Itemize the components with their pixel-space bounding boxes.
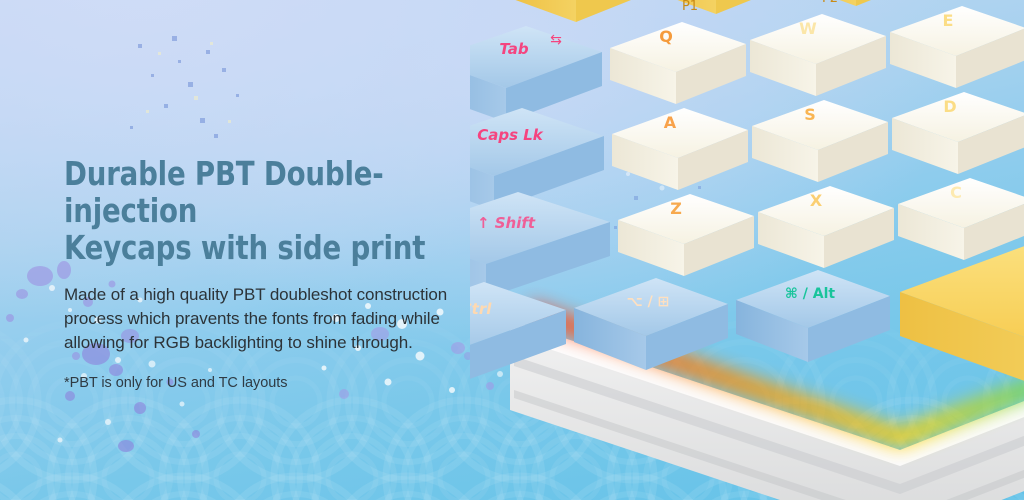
key-x: X xyxy=(758,186,894,268)
key-d: D xyxy=(892,92,1024,174)
key-label: A xyxy=(664,113,677,132)
key-label: X xyxy=(810,191,823,210)
key-label: S xyxy=(804,105,816,124)
copy-block: Durable PBT Double-injection Keycaps wit… xyxy=(64,156,534,394)
product-feature-banner: ☼ Red+ Green+ xyxy=(0,0,1024,500)
keyboard-case xyxy=(510,320,1024,500)
key-label: ⌘ / Alt xyxy=(785,286,835,302)
keyboard-product-image: ☼ Red+ Green+ xyxy=(470,0,1024,500)
key-tab: Tab ⇆ xyxy=(470,26,602,122)
key-row-asdf: Caps Lk A S xyxy=(470,84,1024,210)
key-sublabel: P1 xyxy=(682,0,698,14)
paint-splatter-texture xyxy=(600,140,720,250)
key-label: Tab xyxy=(499,40,529,58)
paint-splatter-texture xyxy=(118,30,268,150)
key-e: E xyxy=(890,6,1024,88)
rgb-underglow xyxy=(530,302,1024,448)
key-option-win: ⌥ / ⊞ xyxy=(574,278,728,370)
key-2: @ 2 P2 xyxy=(790,0,926,6)
page-title: Durable PBT Double-injection Keycaps wit… xyxy=(64,156,501,267)
key-row-zxcv: ↑ Shift Z X xyxy=(470,170,1024,298)
key-s: S xyxy=(752,100,888,182)
key-label: W xyxy=(799,19,817,38)
key-z: Z xyxy=(618,194,754,276)
key-label: Caps Lk xyxy=(477,126,544,144)
key-label: C xyxy=(950,183,962,202)
key-label: Q xyxy=(659,27,673,46)
svg-text:⇆: ⇆ xyxy=(550,32,562,48)
key-label: D xyxy=(943,97,956,116)
key-label: ⌥ / ⊞ xyxy=(627,294,670,310)
key-spacebar xyxy=(900,244,1024,406)
body-description: Made of a high quality PBT doubleshot co… xyxy=(64,283,534,355)
key-a: A xyxy=(612,108,748,190)
key-label: Z xyxy=(670,199,682,218)
footnote-disclaimer: *PBT is only for US and TC layouts xyxy=(64,373,534,393)
key-label: E xyxy=(943,11,954,30)
key-1: ! 1 P1 xyxy=(650,0,786,14)
key-row-qwer: Tab ⇆ Q W xyxy=(470,0,1024,122)
key-c: C xyxy=(898,178,1024,260)
key-sublabel: P2 xyxy=(822,0,838,6)
key-row-number: ~ ` ! 1 P1 @ 2 P2 xyxy=(510,0,1024,22)
key-command-alt: ⌘ / Alt xyxy=(736,270,890,362)
key-row-bottom: Ctrl ⌥ / ⊞ ⌘ / Alt xyxy=(470,244,1024,406)
key-q: Q xyxy=(610,22,746,104)
key-tilde: ~ ` xyxy=(510,0,646,22)
key-w: W xyxy=(750,14,886,96)
